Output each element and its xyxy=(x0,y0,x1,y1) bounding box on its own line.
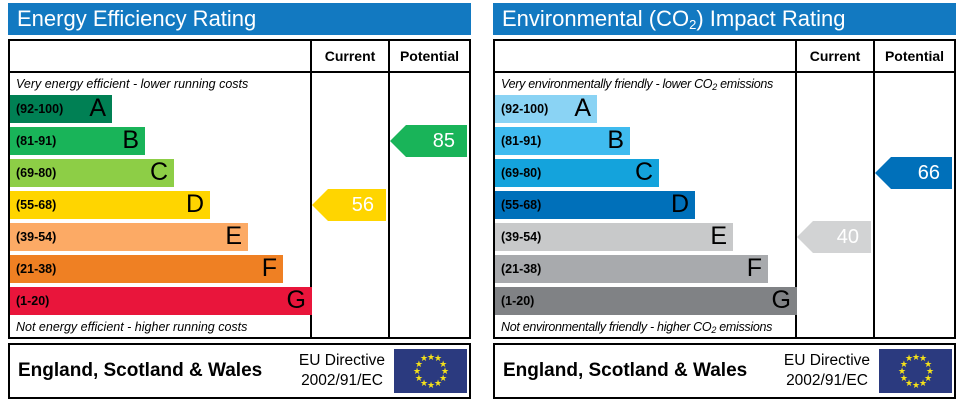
epc-charts-page: Energy Efficiency Rating Current Potenti… xyxy=(0,0,957,404)
rating-band-c: (69-80)C xyxy=(10,159,174,187)
energy-directive-line2: 2002/91/EC xyxy=(284,371,400,391)
energy-caption-top: Very energy efficient - lower running co… xyxy=(16,77,308,91)
rating-band-g: (1-20)G xyxy=(10,287,312,315)
rating-band-a: (92-100)A xyxy=(10,95,112,123)
environmental-impact-rating-chart: Environmental (CO2) Impact Rating Curren… xyxy=(485,0,957,404)
eu-star-icon: ★ xyxy=(427,354,434,361)
band-letter-label: E xyxy=(225,223,242,251)
energy-efficiency-potential-rating-marker: 85 xyxy=(390,125,467,157)
eu-star-icon: ★ xyxy=(912,354,919,361)
band-range-label: (69-80) xyxy=(16,159,56,187)
rating-band-b: (81-91)B xyxy=(495,127,630,155)
rating-band-b: (81-91)B xyxy=(10,127,145,155)
energy-header-potential: Potential xyxy=(390,41,469,71)
rating-band-e: (39-54)E xyxy=(495,223,733,251)
rating-band-f: (21-38)F xyxy=(10,255,283,283)
chart-title-environmental: Environmental (CO2) Impact Rating xyxy=(493,3,956,35)
eu-flag-icon: ★★★★★★★★★★★★ xyxy=(879,349,952,393)
energy-footer: England, Scotland & Wales EU Directive 2… xyxy=(8,343,471,399)
eu-star-icon: ★ xyxy=(905,355,912,362)
band-range-label: (21-38) xyxy=(16,255,56,283)
environmental-chart-frame: Current Potential Very environmentally f… xyxy=(493,39,956,339)
rating-band-f: (21-38)F xyxy=(495,255,768,283)
band-letter-label: D xyxy=(671,191,689,219)
rating-band-c: (69-80)C xyxy=(495,159,659,187)
rating-band-e: (39-54)E xyxy=(10,223,248,251)
environmental-impact-potential-rating-marker: 66 xyxy=(875,157,952,189)
environmental-band-list: (92-100)A(81-91)B(69-80)C(55-68)D(39-54)… xyxy=(495,95,793,319)
band-letter-label: E xyxy=(710,223,727,251)
environmental-divider-potential xyxy=(873,41,875,337)
band-range-label: (55-68) xyxy=(501,191,541,219)
eu-star-icon: ★ xyxy=(912,382,919,389)
band-letter-label: B xyxy=(607,127,624,155)
eu-star-icon: ★ xyxy=(919,380,926,387)
rating-band-a: (92-100)A xyxy=(495,95,597,123)
band-letter-label: G xyxy=(772,287,791,315)
environmental-footer-directive: EU Directive 2002/91/EC xyxy=(769,351,885,391)
band-letter-label: C xyxy=(635,159,653,187)
current-rating-value: 40 xyxy=(837,226,859,248)
rating-band-d: (55-68)D xyxy=(495,191,695,219)
energy-directive-line1: EU Directive xyxy=(284,351,400,371)
energy-band-list: (92-100)A(81-91)B(69-80)C(55-68)D(39-54)… xyxy=(10,95,308,319)
eu-star-icon: ★ xyxy=(420,355,427,362)
band-letter-label: B xyxy=(122,127,139,155)
band-range-label: (39-54) xyxy=(16,223,56,251)
band-range-label: (81-91) xyxy=(501,127,541,155)
environmental-footer-region: England, Scotland & Wales xyxy=(503,345,747,397)
band-range-label: (92-100) xyxy=(16,95,63,123)
band-range-label: (69-80) xyxy=(501,159,541,187)
band-letter-label: A xyxy=(89,95,106,123)
band-letter-label: C xyxy=(150,159,168,187)
band-range-label: (55-68) xyxy=(16,191,56,219)
band-range-label: (1-20) xyxy=(16,287,49,315)
band-range-label: (21-38) xyxy=(501,255,541,283)
energy-header-current: Current xyxy=(312,41,388,71)
energy-footer-directive: EU Directive 2002/91/EC xyxy=(284,351,400,391)
rating-band-d: (55-68)D xyxy=(10,191,210,219)
energy-caption-bottom: Not energy efficient - higher running co… xyxy=(16,320,308,334)
environmental-caption-bottom: Not environmentally friendly - higher CO… xyxy=(501,320,793,334)
eu-star-icon: ★ xyxy=(434,380,441,387)
band-letter-label: G xyxy=(287,287,306,315)
environmental-impact-current-rating-marker: 40 xyxy=(797,221,871,253)
eu-flag-icon: ★★★★★★★★★★★★ xyxy=(394,349,467,393)
eu-star-icon: ★ xyxy=(413,368,420,375)
band-letter-label: D xyxy=(186,191,204,219)
eu-star-icon: ★ xyxy=(427,382,434,389)
energy-divider-potential xyxy=(388,41,390,337)
environmental-directive-line1: EU Directive xyxy=(769,351,885,371)
band-range-label: (1-20) xyxy=(501,287,534,315)
environmental-header-potential: Potential xyxy=(875,41,954,71)
environmental-footer: England, Scotland & Wales EU Directive 2… xyxy=(493,343,956,399)
band-range-label: (39-54) xyxy=(501,223,541,251)
eu-star-icon: ★ xyxy=(898,368,905,375)
band-letter-label: F xyxy=(262,255,277,283)
rating-band-g: (1-20)G xyxy=(495,287,797,315)
energy-footer-region: England, Scotland & Wales xyxy=(18,345,262,397)
eu-star-icon: ★ xyxy=(900,375,907,382)
chart-title-energy-text: Energy Efficiency Rating xyxy=(17,6,256,31)
energy-chart-frame: Current Potential Very energy efficient … xyxy=(8,39,471,339)
eu-star-icon: ★ xyxy=(415,375,422,382)
energy-efficiency-current-rating-marker: 56 xyxy=(312,189,386,221)
environmental-header-current: Current xyxy=(797,41,873,71)
band-letter-label: A xyxy=(574,95,591,123)
potential-rating-value: 85 xyxy=(433,130,455,152)
current-rating-value: 56 xyxy=(352,194,374,216)
band-range-label: (92-100) xyxy=(501,95,548,123)
environmental-caption-top: Very environmentally friendly - lower CO… xyxy=(501,77,793,91)
band-letter-label: F xyxy=(747,255,762,283)
band-range-label: (81-91) xyxy=(16,127,56,155)
chart-title-environmental-text: Environmental (CO2) Impact Rating xyxy=(502,6,845,31)
energy-efficiency-rating-chart: Energy Efficiency Rating Current Potenti… xyxy=(0,0,472,404)
chart-title-energy: Energy Efficiency Rating xyxy=(8,3,471,35)
environmental-directive-line2: 2002/91/EC xyxy=(769,371,885,391)
potential-rating-value: 66 xyxy=(918,162,940,184)
